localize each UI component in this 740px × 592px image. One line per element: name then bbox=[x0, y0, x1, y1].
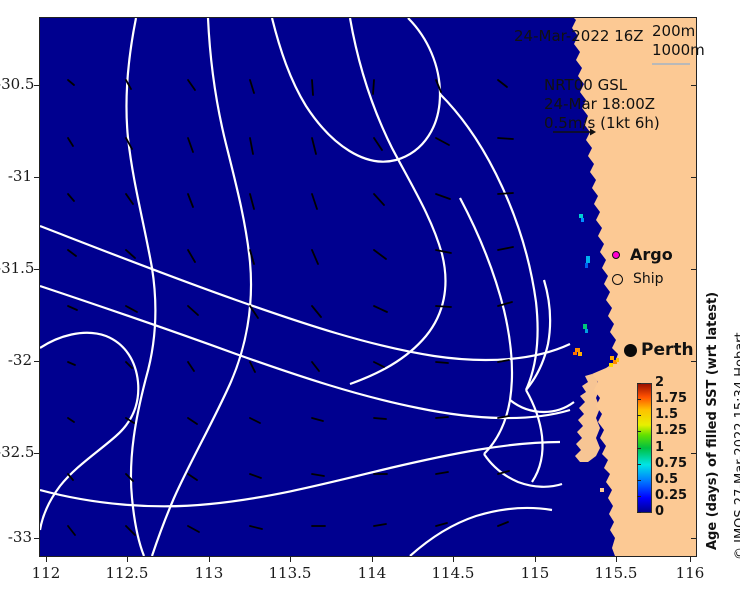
current-model-time: 24-Mar 18:00Z bbox=[544, 95, 660, 114]
legend-entry-ship[interactable]: Ship bbox=[612, 271, 664, 287]
colorbar-tick-label: 1 bbox=[655, 440, 664, 455]
legend-ship-label: Ship bbox=[633, 271, 664, 287]
colorbar-tick bbox=[637, 480, 641, 481]
y-axis-label: -33 bbox=[0, 528, 32, 546]
colorbar-tick bbox=[637, 464, 641, 465]
city-dot-icon bbox=[624, 344, 637, 357]
legend-entry-argo[interactable]: Argo bbox=[612, 245, 673, 264]
y-axis-tick-right bbox=[691, 538, 697, 539]
city-label-perth: Perth bbox=[641, 340, 694, 360]
legend-argo-label: Argo bbox=[630, 245, 673, 264]
depth-contour-legend: 200m 1000m bbox=[652, 22, 705, 60]
y-axis-label: -31 bbox=[0, 167, 32, 185]
colorbar-axis-title: Age (days) of filled SST (wrt latest) bbox=[705, 292, 720, 550]
y-axis-tick bbox=[34, 538, 39, 539]
y-axis-label: -30.5 bbox=[0, 75, 32, 93]
y-axis-tick bbox=[34, 453, 39, 454]
x-axis-label: 114 bbox=[337, 564, 407, 582]
colorbar-tick bbox=[637, 431, 641, 432]
x-axis-tick bbox=[46, 557, 47, 562]
colorbar-tick bbox=[637, 496, 641, 497]
y-axis-tick-right bbox=[691, 453, 697, 454]
depth-200m-label: 200m bbox=[652, 22, 705, 41]
y-axis-tick-right bbox=[691, 177, 697, 178]
x-axis-label: 112 bbox=[11, 564, 81, 582]
colorbar-tick-label: 2 bbox=[655, 375, 664, 390]
colorbar-tick-label: 1.75 bbox=[655, 391, 687, 406]
current-reference-arrow-icon bbox=[552, 126, 598, 138]
y-axis-tick bbox=[34, 85, 39, 86]
y-axis-tick-right bbox=[691, 269, 697, 270]
y-axis-tick bbox=[34, 361, 39, 362]
colorbar-tick-label: 0.25 bbox=[655, 488, 687, 503]
ship-marker-icon bbox=[612, 274, 623, 285]
y-axis-tick bbox=[34, 269, 39, 270]
figure-canvas: 24-Mar-2022 16Z 200m 1000m NRT00 GSL 24-… bbox=[0, 0, 740, 592]
y-axis-tick-right bbox=[691, 361, 697, 362]
colorbar-tick-label: 1.25 bbox=[655, 423, 687, 438]
x-axis-tick bbox=[290, 557, 291, 562]
x-axis-label: 113 bbox=[174, 564, 244, 582]
y-axis-tick bbox=[34, 177, 39, 178]
depth-1000m-label: 1000m bbox=[652, 41, 705, 60]
depth-contour-sample-line bbox=[652, 63, 690, 65]
current-model-info: NRT00 GSL 24-Mar 18:00Z 0.5m/s (1kt 6h) bbox=[544, 76, 660, 133]
x-axis-tick bbox=[127, 557, 128, 562]
copyright-notice: © IMOS 27-Mar-2022 15:34 Hobart bbox=[733, 332, 740, 560]
colorbar-tick bbox=[637, 383, 641, 384]
colorbar-tick-label: 0.75 bbox=[655, 456, 687, 471]
x-axis-label: 114.5 bbox=[418, 564, 488, 582]
colorbar-tick bbox=[637, 448, 641, 449]
colorbar-tick bbox=[637, 415, 641, 416]
map-datestamp: 24-Mar-2022 16Z bbox=[514, 27, 644, 45]
colorbar-tick bbox=[637, 512, 641, 513]
x-axis-tick bbox=[690, 557, 691, 562]
x-axis-label: 116 bbox=[655, 564, 725, 582]
y-axis-label: -32 bbox=[0, 351, 32, 369]
y-axis-label: -32.5 bbox=[0, 443, 32, 461]
argo-marker-icon bbox=[612, 251, 620, 259]
colorbar-tick-label: 0 bbox=[655, 504, 664, 519]
city-marker-perth[interactable]: Perth bbox=[624, 340, 694, 360]
x-axis-label: 115 bbox=[500, 564, 570, 582]
x-axis-label: 115.5 bbox=[581, 564, 651, 582]
x-axis-tick bbox=[209, 557, 210, 562]
colorbar-tick-label: 1.5 bbox=[655, 407, 678, 422]
x-axis-tick bbox=[616, 557, 617, 562]
x-axis-tick bbox=[372, 557, 373, 562]
x-axis-tick bbox=[535, 557, 536, 562]
x-axis-label: 113.5 bbox=[255, 564, 325, 582]
current-model-name: NRT00 GSL bbox=[544, 76, 660, 95]
y-axis-label: -31.5 bbox=[0, 259, 32, 277]
colorbar-tick bbox=[637, 399, 641, 400]
colorbar-tick-label: 0.5 bbox=[655, 472, 678, 487]
x-axis-label: 112.5 bbox=[92, 564, 162, 582]
x-axis-tick bbox=[453, 557, 454, 562]
y-axis-tick-right bbox=[691, 85, 697, 86]
